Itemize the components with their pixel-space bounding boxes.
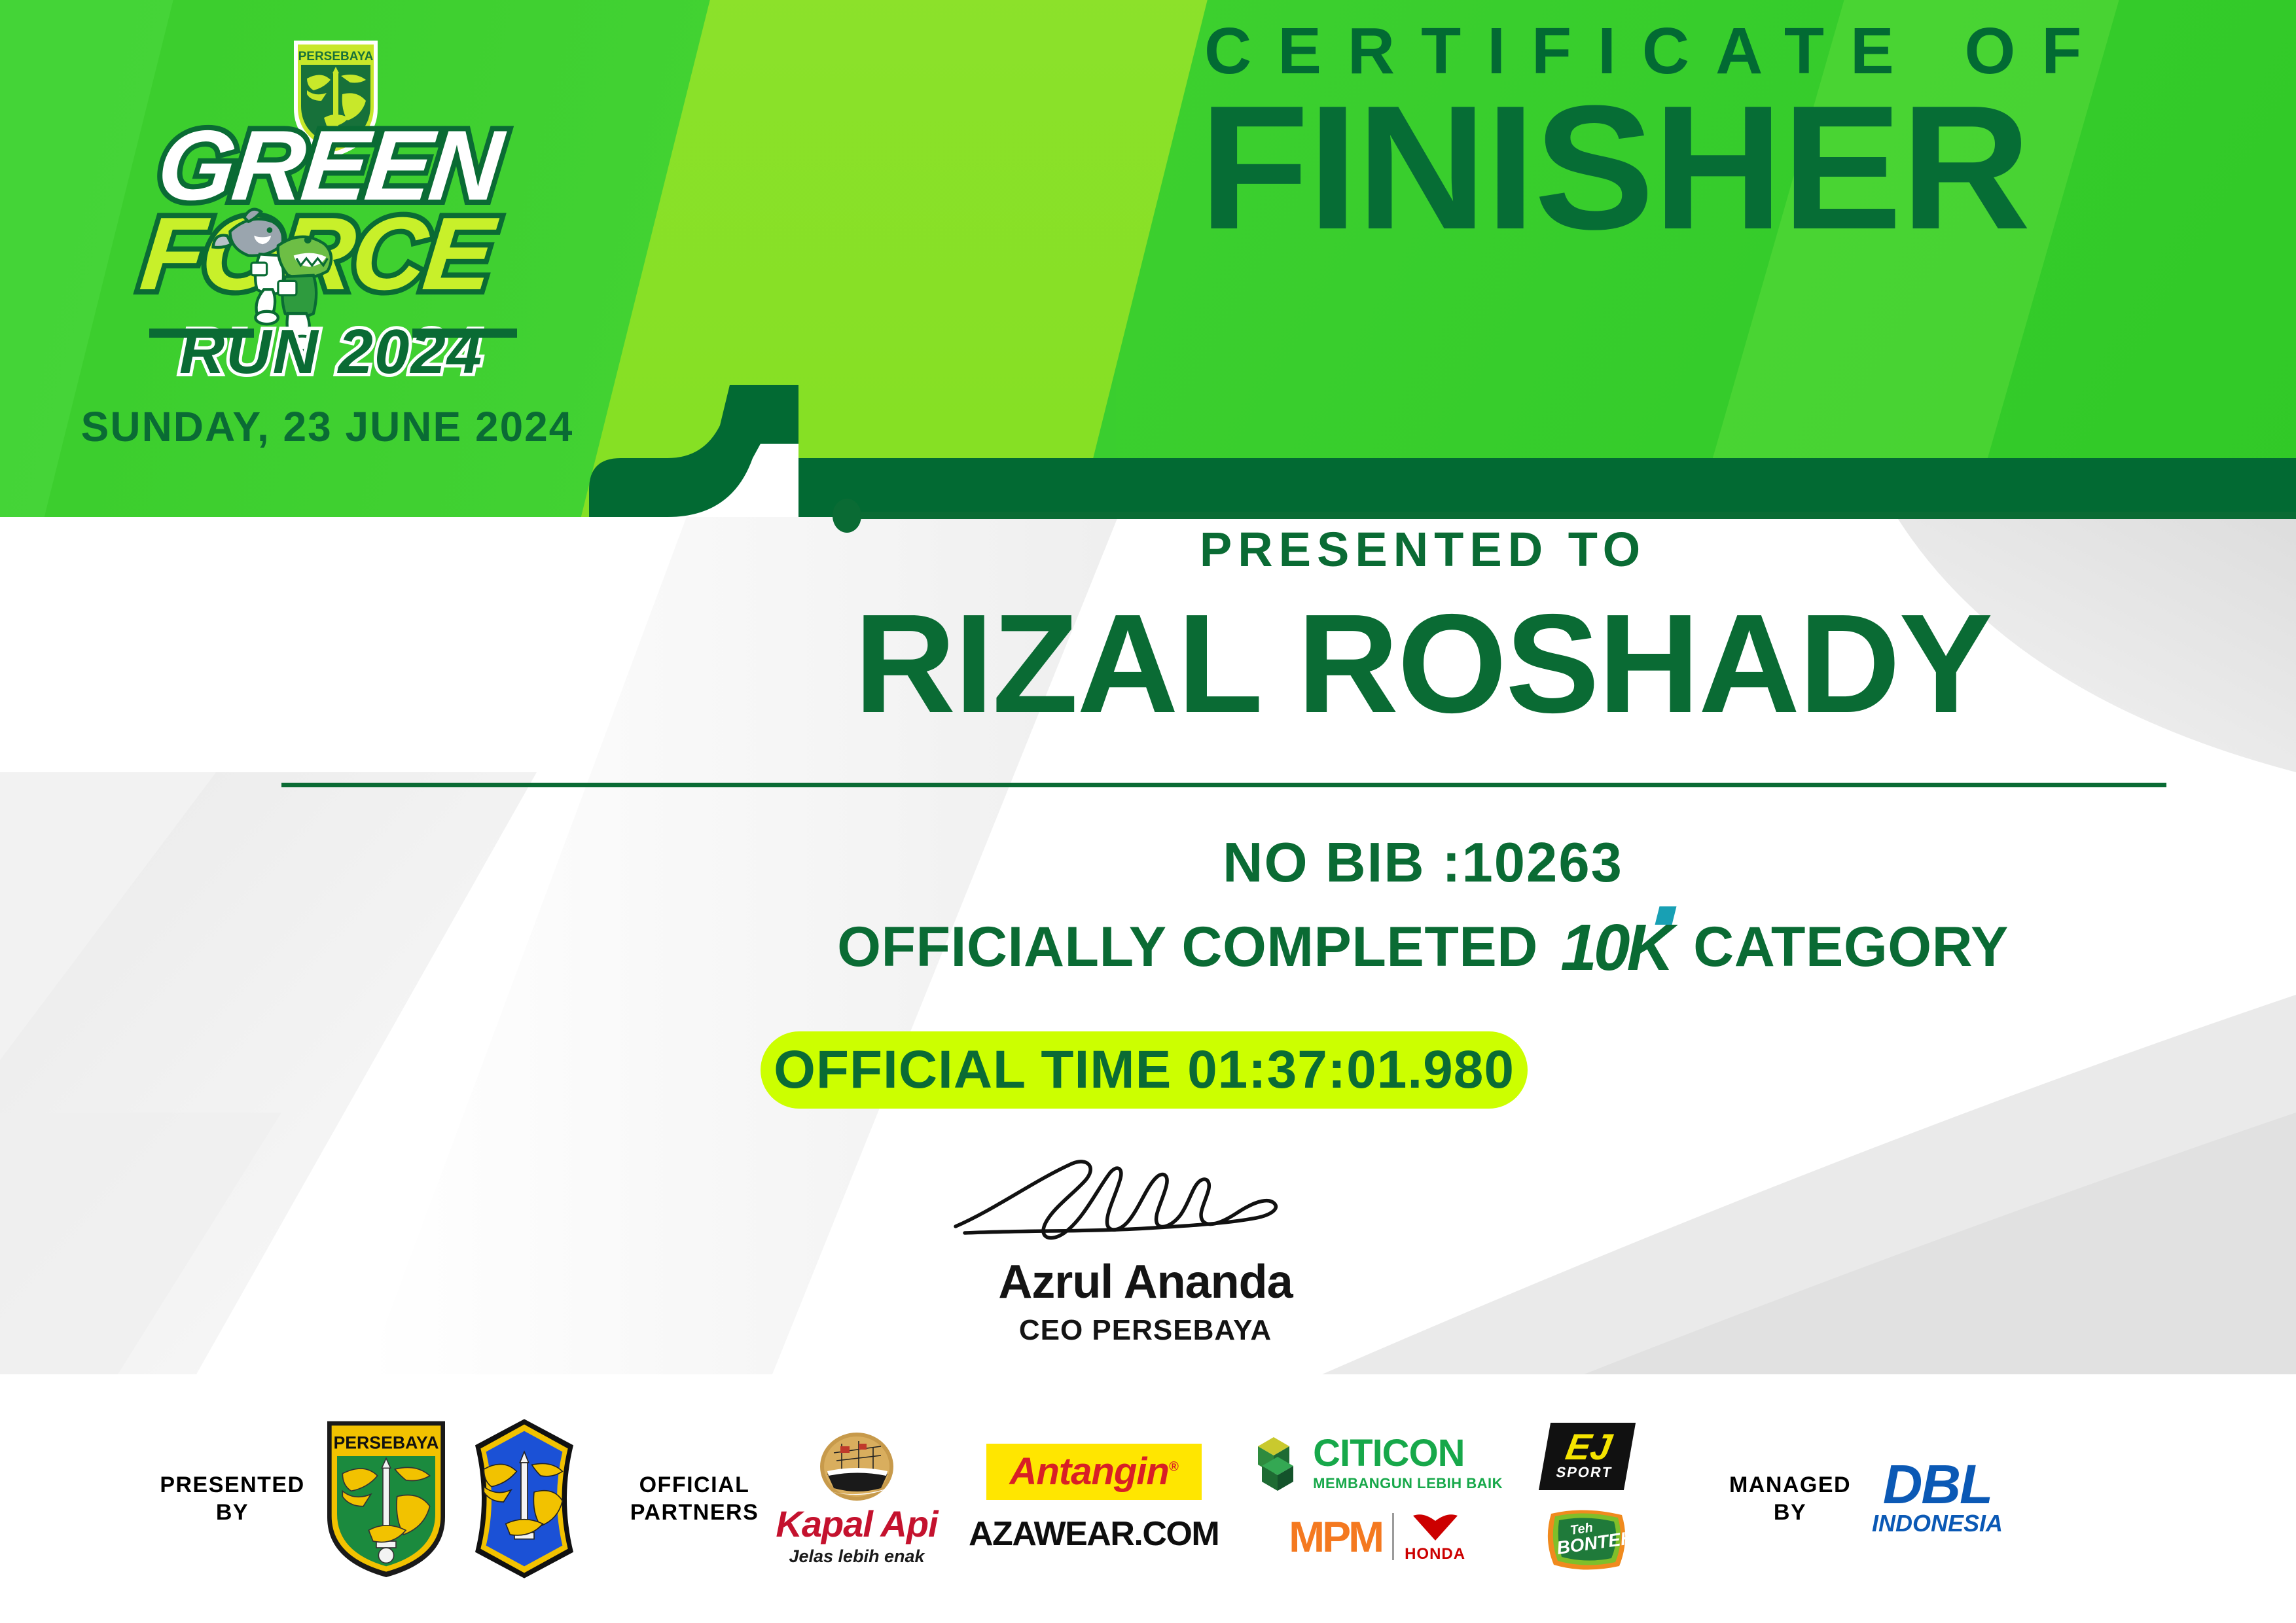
bib-label: NO BIB : <box>1223 832 1462 894</box>
divider-line-top <box>854 512 2296 519</box>
bib-number: 10263 <box>1462 832 1623 894</box>
dbl-text: DBL <box>1872 1460 2003 1510</box>
signature-icon <box>916 1149 1374 1254</box>
citicon-text: CITICON <box>1313 1435 1503 1472</box>
kapal-api-ship-icon <box>808 1431 906 1506</box>
divider-line-under-name <box>281 783 2166 787</box>
category-10k-logo: 10K <box>1560 910 1670 986</box>
sponsor-logo-citicon: CITICON MEMBANGUN LEBIH BAIK <box>1251 1435 1503 1492</box>
presented-to-label: PRESENTED TO <box>589 522 2257 577</box>
sponsor-logo-teh-bonteh: Teh BONTEH <box>1538 1506 1636 1575</box>
ej-sport-tagline: SPORT <box>1554 1464 1613 1481</box>
header-bottom-border <box>641 458 2296 517</box>
sponsor-logo-ej-sport: EJ SPORT <box>1539 1423 1636 1490</box>
managed-by-label: MANAGED BY <box>1715 1471 1865 1527</box>
category-10k-text: 10K <box>1560 911 1670 984</box>
completed-suffix: CATEGORY <box>1693 916 2009 978</box>
official-time-text: OFFICIAL TIME 01:37:01.980 <box>774 1039 1515 1101</box>
surabaya-city-crest-icon <box>462 1417 586 1580</box>
citicon-mark-icon <box>1251 1435 1308 1492</box>
sponsor-logo-kapal-api: Kapal Api Jelas lebih enak <box>775 1431 939 1567</box>
completed-prefix: OFFICIALLY COMPLETED <box>837 916 1538 978</box>
recipient-name: RIZAL ROSHADY <box>589 589 2257 738</box>
antangin-registered-mark: ® <box>1169 1460 1178 1474</box>
persebaya-crest-footer-icon: PERSEBAYA <box>321 1417 452 1580</box>
green-force-run-logo: GREEN FORCE <box>72 118 596 393</box>
signatory-role: CEO PERSEBAYA <box>916 1314 1374 1347</box>
teh-bonteh-shape-icon: Teh BONTEH <box>1538 1506 1636 1575</box>
sponsor-logo-mpm-honda: MPM HONDA <box>1289 1510 1465 1563</box>
kapal-api-tagline: Jelas lebih enak <box>776 1546 937 1567</box>
signatory-name: Azrul Ananda <box>916 1255 1374 1309</box>
honda-wing-icon <box>1407 1510 1464 1542</box>
sponsor-footer: PRESENTED BY PERSEBAYA <box>0 1374 2296 1623</box>
footer-presented-by-group: PRESENTED BY PERSEBAYA <box>157 1417 586 1580</box>
dbl-tagline: INDONESIA <box>1872 1510 2003 1537</box>
certificate-title-line2: FINISHER <box>1199 85 2030 251</box>
sponsor-group-antangin-azawear: Antangin® AZAWEAR.COM <box>969 1444 1219 1554</box>
sponsor-logo-dbl-indonesia: DBL INDONESIA <box>1872 1460 2003 1537</box>
completed-category-line: OFFICIALLY COMPLETED 10K CATEGORY <box>589 906 2257 982</box>
antangin-word: Antangin <box>1010 1450 1169 1493</box>
ej-text: EJ <box>1558 1429 1620 1464</box>
sponsor-group-ej-bonteh: EJ SPORT Teh BONTEH <box>1538 1423 1636 1575</box>
logo-word-run-2024: RUN 2024 <box>130 317 530 387</box>
certificate-root: PERSEBAYA GREEN FORCE <box>0 0 2296 1623</box>
sponsor-logo-antangin: Antangin® <box>986 1444 1202 1500</box>
signature-block: Azrul Ananda CEO PERSEBAYA <box>916 1149 1374 1347</box>
mpm-text: MPM <box>1289 1515 1382 1558</box>
footer-managed-by-group: MANAGED BY DBL INDONESIA <box>1715 1460 2003 1537</box>
antangin-text: Antangin® <box>1010 1453 1178 1491</box>
svg-text:PERSEBAYA: PERSEBAYA <box>298 50 374 63</box>
bib-number-line: NO BIB :10263 <box>589 831 2257 895</box>
official-time-badge: OFFICIAL TIME 01:37:01.980 <box>761 1031 1528 1109</box>
svg-text:PERSEBAYA: PERSEBAYA <box>333 1433 439 1452</box>
honda-text: HONDA <box>1405 1545 1465 1563</box>
footer-official-partners-group: OFFICIAL PARTNERS <box>626 1423 1636 1575</box>
svg-text:RUN 2024: RUN 2024 <box>179 317 483 387</box>
sponsor-logo-azawear: AZAWEAR.COM <box>969 1514 1219 1554</box>
category-10k-accent-mark <box>1655 906 1676 925</box>
presented-by-label: PRESENTED BY <box>157 1471 308 1527</box>
mpm-divider <box>1392 1513 1394 1560</box>
sponsor-group-citicon-mpm: CITICON MEMBANGUN LEBIH BAIK MPM HONDA <box>1251 1435 1503 1563</box>
official-partners-label: OFFICIAL PARTNERS <box>626 1471 763 1527</box>
header-banner: PERSEBAYA GREEN FORCE <box>0 0 2296 517</box>
citicon-tagline: MEMBANGUN LEBIH BAIK <box>1313 1475 1503 1492</box>
event-date: SUNDAY, 23 JUNE 2024 <box>0 402 655 451</box>
kapal-api-name: Kapal Api <box>776 1506 937 1543</box>
